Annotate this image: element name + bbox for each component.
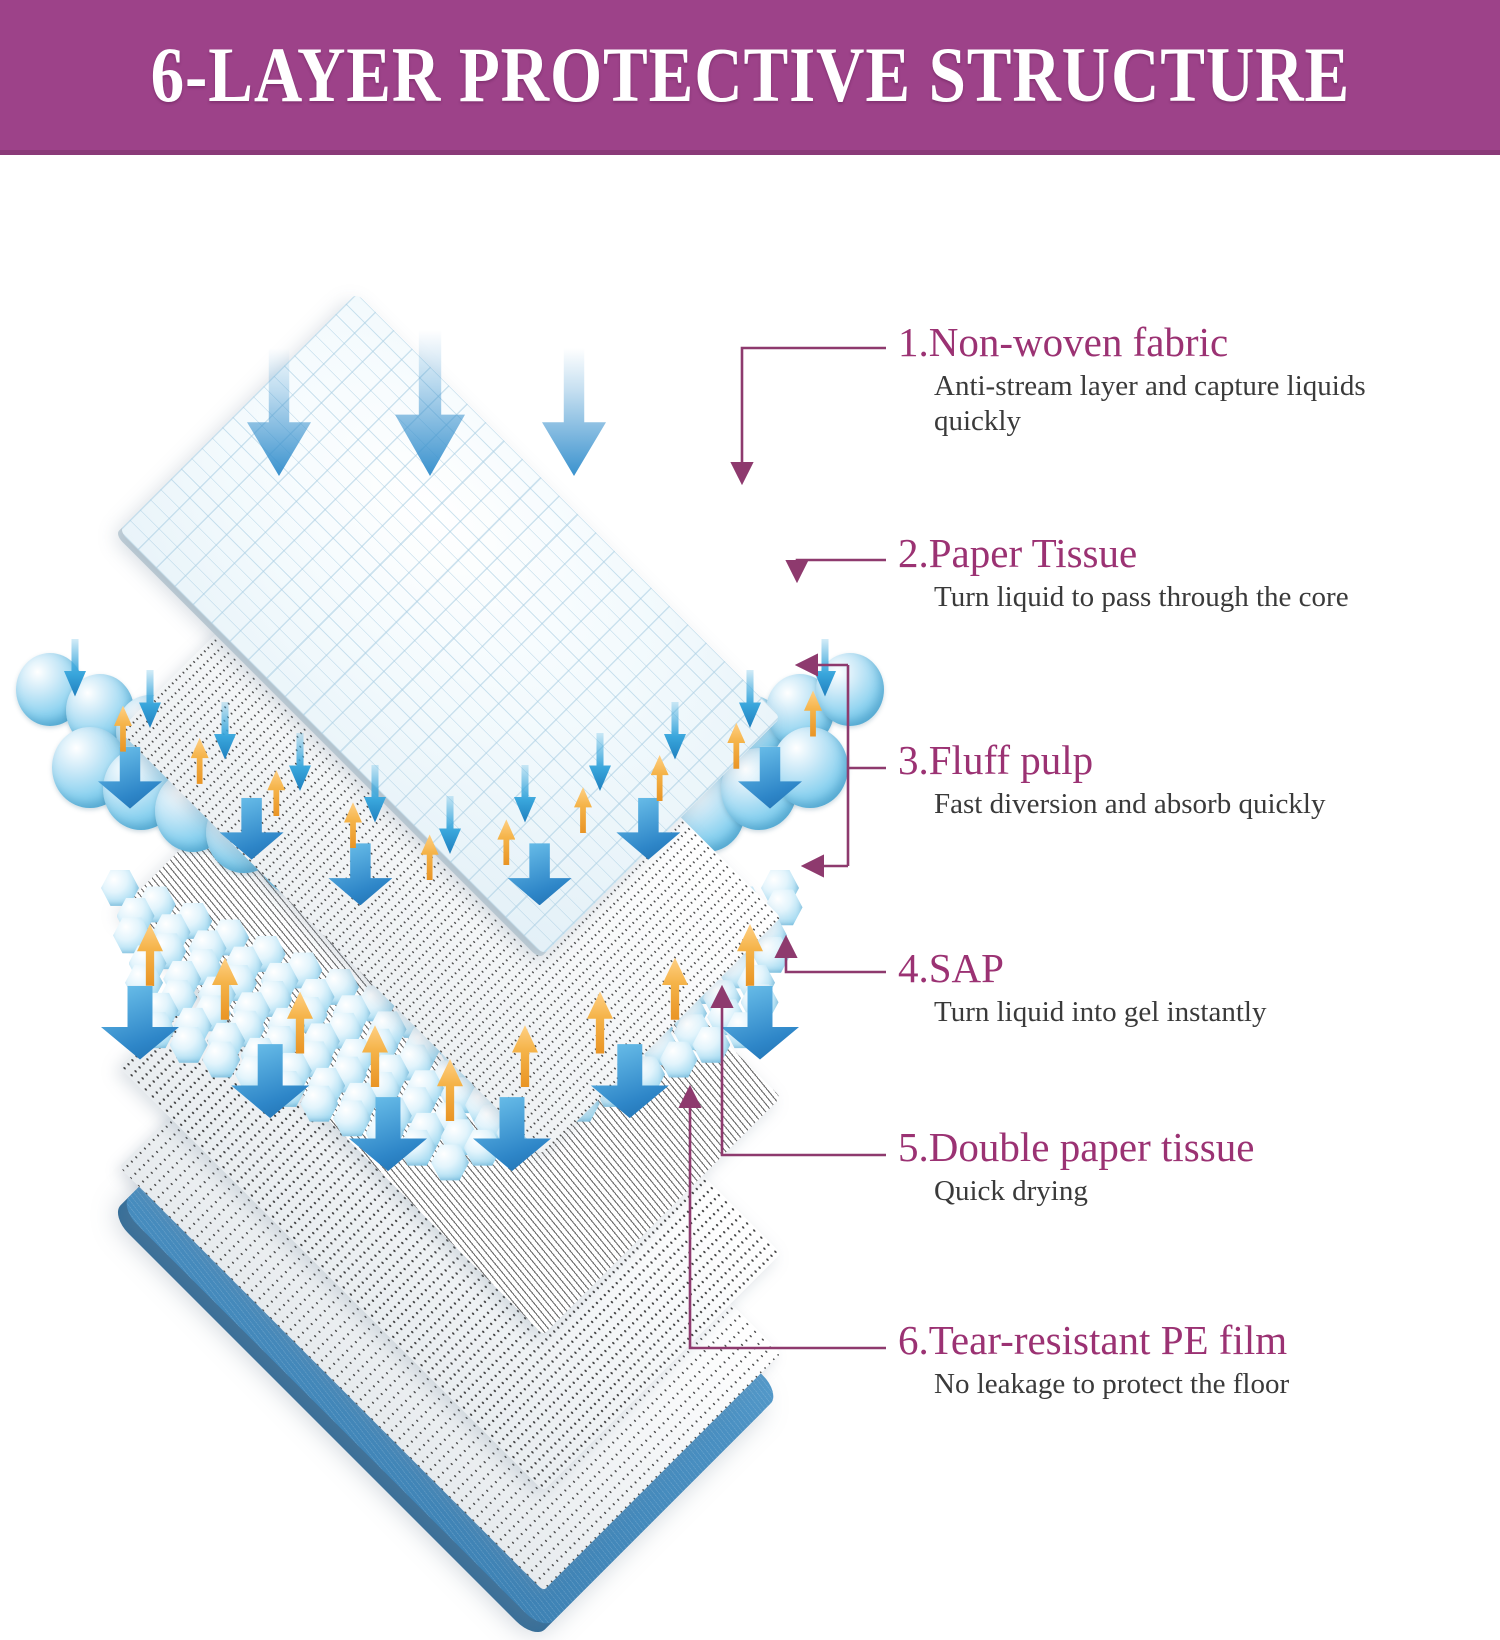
non-woven-sheet [119,293,781,955]
label-number-5: 5. [898,1124,929,1170]
label-name-2: Paper Tissue [929,530,1137,576]
label-block-4: 4.SAP Turn liquid into gel instantly [898,948,1498,1030]
label-name-4: SAP [929,945,1004,991]
flow-arrow-down-small [64,639,86,697]
label-title-6: 6.Tear-resistant PE film [898,1320,1498,1362]
label-name-5: Double paper tissue [929,1124,1255,1170]
label-number-4: 4. [898,945,929,991]
label-block-1: 1.Non-woven fabric Anti-stream layer and… [898,322,1498,440]
flow-arrow-down-small [814,639,836,697]
layer-stack-diagram [10,300,890,1420]
label-desc-2: Turn liquid to pass through the core [934,580,1434,615]
label-number-3: 3. [898,737,929,783]
label-column: 1.Non-woven fabric Anti-stream layer and… [898,0,1498,1426]
label-desc-3: Fast diversion and absorb quickly [934,787,1434,822]
label-number-2: 2. [898,530,929,576]
label-block-2: 2.Paper Tissue Turn liquid to pass throu… [898,533,1498,615]
label-block-6: 6.Tear-resistant PE film No leakage to p… [898,1320,1498,1402]
label-title-3: 3.Fluff pulp [898,740,1498,782]
label-desc-6: No leakage to protect the floor [934,1367,1434,1402]
label-number-1: 1. [898,319,929,365]
label-desc-5: Quick drying [934,1174,1434,1209]
label-title-4: 4.SAP [898,948,1498,990]
label-title-2: 2.Paper Tissue [898,533,1498,575]
label-block-3: 3.Fluff pulp Fast diversion and absorb q… [898,740,1498,822]
label-block-5: 5.Double paper tissue Quick drying [898,1127,1498,1209]
label-desc-4: Turn liquid into gel instantly [934,995,1434,1030]
label-number-6: 6. [898,1317,929,1363]
label-desc-1: Anti-stream layer and capture liquids qu… [934,369,1434,440]
label-name-6: Tear-resistant PE film [929,1317,1287,1363]
flow-arrow-up-small [804,691,822,737]
label-title-1: 1.Non-woven fabric [898,322,1498,364]
label-name-1: Non-woven fabric [929,319,1228,365]
label-title-5: 5.Double paper tissue [898,1127,1498,1169]
label-name-3: Fluff pulp [929,737,1093,783]
